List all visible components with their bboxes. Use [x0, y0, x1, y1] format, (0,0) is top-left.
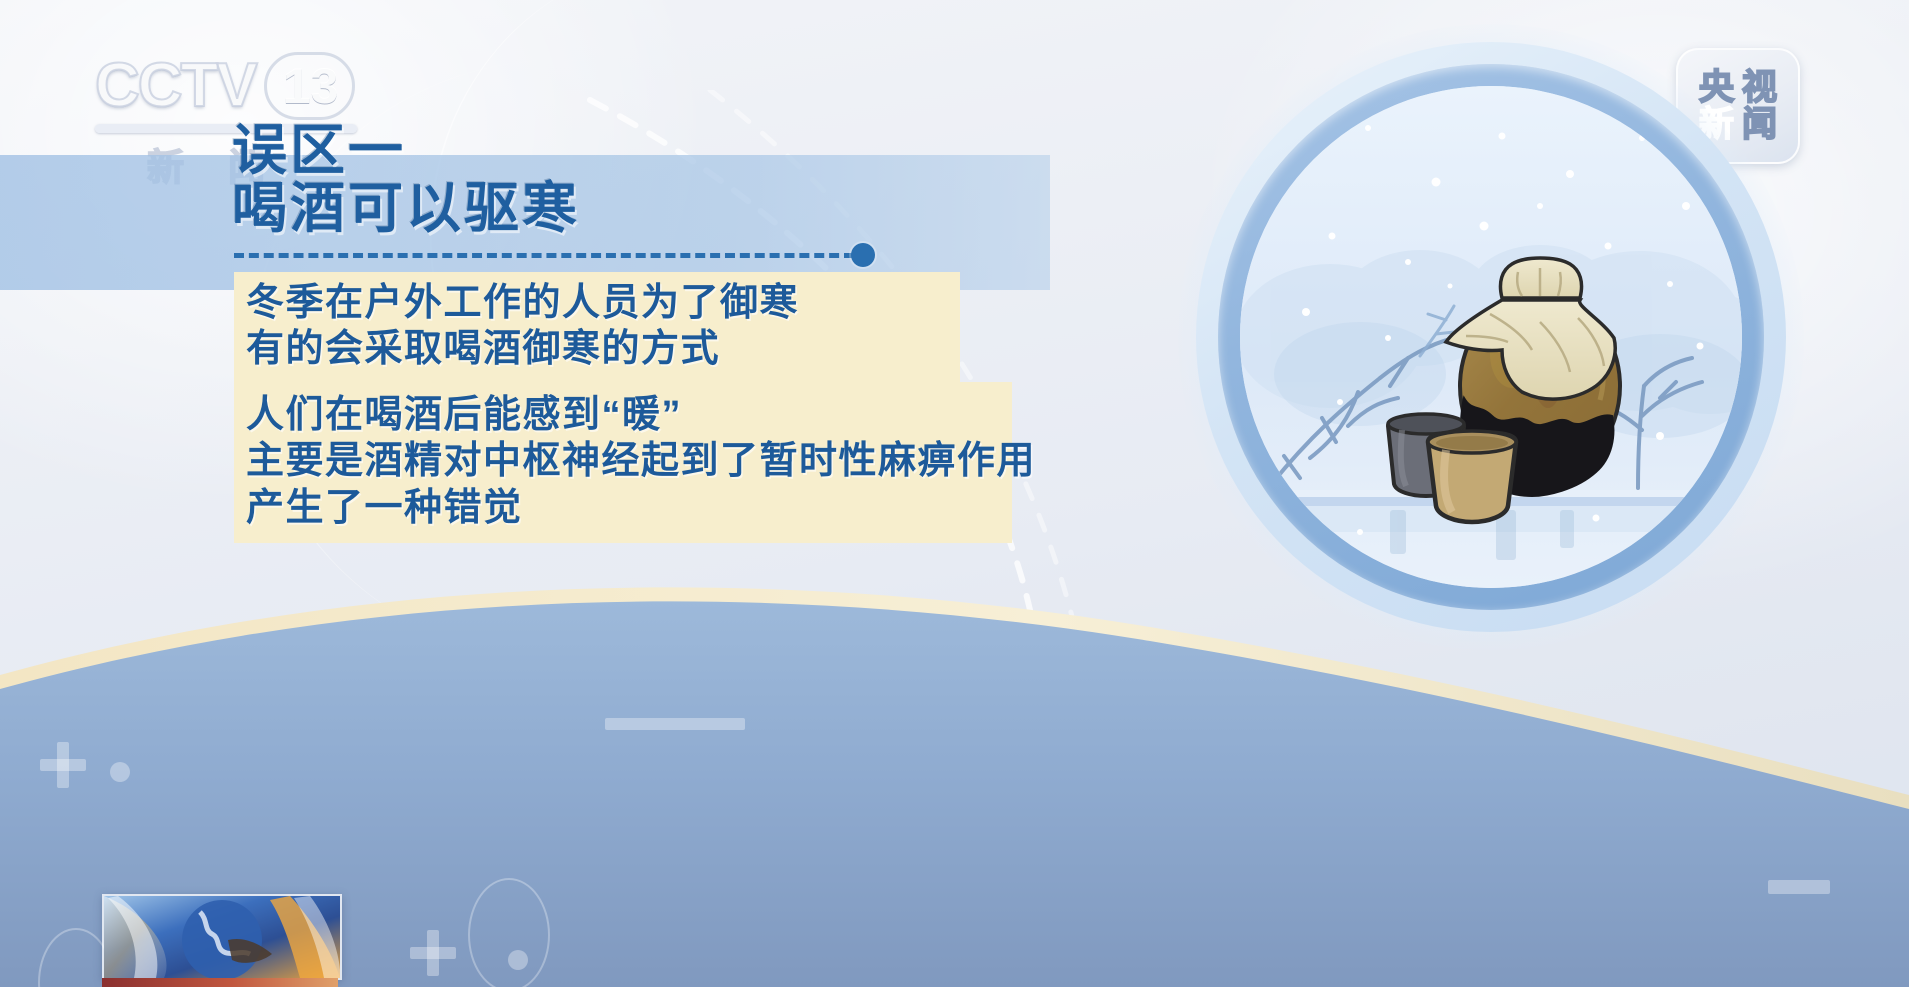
thumbnail-underbar	[102, 978, 338, 987]
news-globe-thumbnail	[102, 894, 342, 980]
broadcast-frame: CCTV 13 新 闻 误区一 喝酒可以驱寒 冬季在户外工作的人员为了御寒 有的…	[0, 0, 1909, 987]
decor-bar-2	[1768, 880, 1830, 894]
decor-plus-3	[410, 930, 456, 976]
cctv-channel-number: 13	[264, 52, 356, 120]
dashed-connector-dot	[851, 243, 875, 267]
decor-dot-2	[508, 950, 528, 970]
headline-block: 误区一 喝酒可以驱寒	[232, 122, 580, 237]
decor-dot-1	[110, 762, 130, 782]
decor-plus-1	[40, 742, 86, 788]
caption-box-2: 人们在喝酒后能感到“暖” 主要是酒精对中枢神经起到了暂时性麻痹作用 产生了一种错…	[234, 382, 1012, 543]
caption-box-1: 冬季在户外工作的人员为了御寒 有的会采取喝酒御寒的方式	[234, 272, 960, 383]
decor-bar-1	[605, 718, 745, 730]
cctv-logo-text: CCTV	[95, 55, 256, 117]
caption-1-line-1: 冬季在户外工作的人员为了御寒	[246, 280, 960, 326]
caption-2-line-2: 主要是酒精对中枢神经起到了暂时性麻痹作用	[246, 438, 1012, 484]
headline-line-2: 喝酒可以驱寒	[232, 179, 580, 237]
headline-line-1: 误区一	[232, 122, 580, 179]
caption-2-line-3: 产生了一种错觉	[246, 485, 1012, 531]
caption-2-line-1: 人们在喝酒后能感到“暖”	[246, 392, 1012, 438]
decor-ring-2	[468, 878, 550, 987]
snow-scene-illustration	[1240, 86, 1742, 588]
circular-illustration	[1196, 42, 1786, 632]
circle-inner-scene	[1240, 86, 1742, 588]
globe-graphic	[104, 896, 340, 978]
dashed-connector-line	[234, 253, 854, 258]
caption-1-line-2: 有的会采取喝酒御寒的方式	[246, 326, 960, 372]
